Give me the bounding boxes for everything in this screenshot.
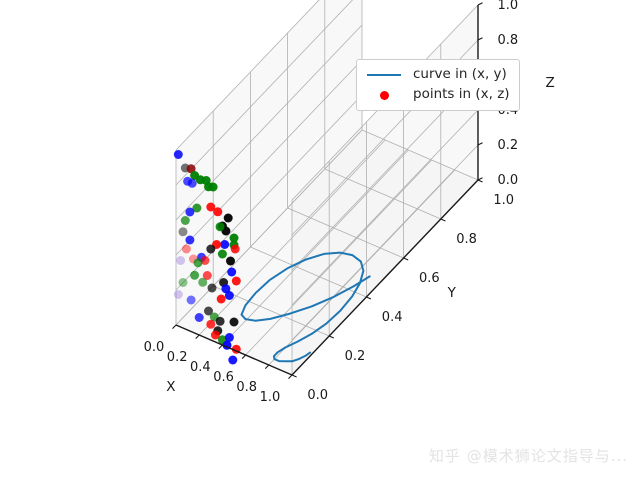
legend[interactable]: curve in (x, y) points in (x, z) — [356, 59, 520, 111]
z-tick-4: 0.8 — [498, 34, 519, 47]
x-tick-2: 0.4 — [190, 361, 211, 374]
z-tick-1: 0.2 — [498, 139, 519, 152]
y-tick-2: 0.4 — [382, 311, 403, 324]
matplotlib-figure: 0.00.20.40.60.81.00.00.20.40.60.81.00.00… — [0, 0, 640, 480]
y-tick-4: 0.8 — [456, 233, 477, 246]
legend-label-curve: curve in (x, y) — [413, 68, 507, 82]
y-tick-1: 0.2 — [345, 350, 366, 363]
x-tick-3: 0.6 — [213, 371, 234, 384]
legend-dot-key — [364, 88, 404, 102]
z-axis-label: Z — [546, 77, 555, 91]
x-axis-label: X — [166, 381, 175, 395]
y-tick-0: 0.0 — [307, 389, 328, 402]
y-axis-label: Y — [448, 287, 456, 301]
z-tick-0: 0.0 — [498, 174, 519, 187]
axes3d-canvas — [0, 0, 640, 480]
x-tick-5: 1.0 — [260, 391, 281, 404]
x-tick-4: 0.8 — [236, 381, 257, 394]
legend-entry-points[interactable]: points in (x, z) — [364, 85, 510, 105]
x-tick-0: 0.0 — [144, 341, 165, 354]
legend-line-key — [364, 68, 404, 82]
z-tick-5: 1.0 — [498, 0, 519, 12]
legend-entry-curve[interactable]: curve in (x, y) — [364, 65, 510, 85]
y-tick-5: 1.0 — [493, 194, 514, 207]
legend-label-points: points in (x, z) — [413, 88, 510, 102]
watermark: 知乎 @模术狮论文指导与... — [429, 445, 628, 466]
y-tick-3: 0.6 — [419, 272, 440, 285]
x-tick-1: 0.2 — [167, 351, 188, 364]
